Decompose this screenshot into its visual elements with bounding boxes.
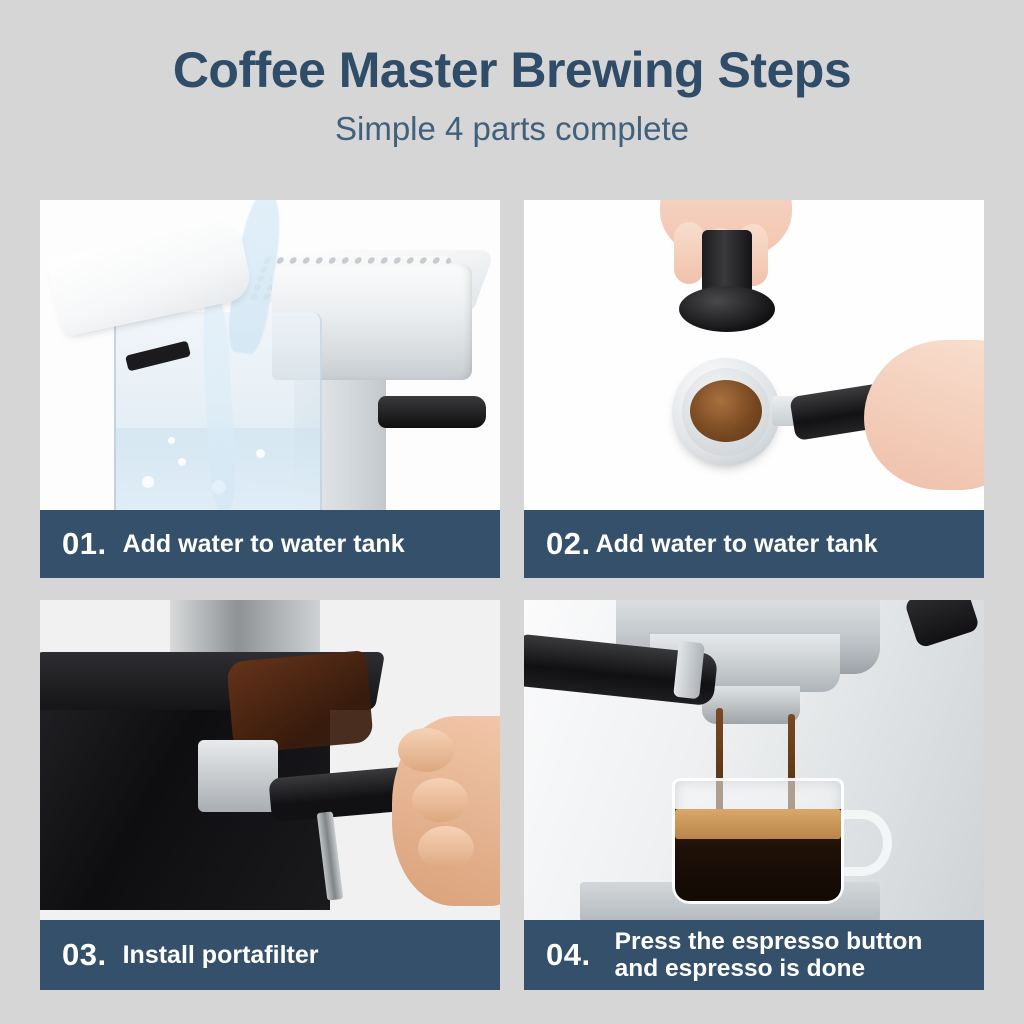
knuckle [418,826,474,870]
finger [674,222,704,284]
step-number: 01. [62,526,107,562]
step-card-03: 03. Install portafilter [40,600,500,990]
step-number: 03. [62,937,107,973]
tamper-base [679,286,775,332]
steam-wand [378,396,486,428]
step-card-02: 02. Add water to water tank [524,200,984,578]
step-caption-02: 02. Add water to water tank [524,510,984,578]
step-label: Add water to water tank [596,530,878,558]
step-label: Add water to water tank [123,530,405,558]
photo-tamp-grounds [524,200,984,510]
coffee-grounds [690,380,762,442]
header: Coffee Master Brewing Steps Simple 4 par… [0,0,1024,148]
photo-espresso-pouring [524,600,984,920]
photo-add-water [40,200,500,510]
knuckle [412,778,468,822]
group-head [198,740,278,812]
step-caption-04: 04. Press the espresso button and espres… [524,920,984,990]
water-bubble [168,437,175,444]
knuckle [398,728,454,772]
page-subtitle: Simple 4 parts complete [0,110,1024,148]
step-card-01: 01. Add water to water tank [40,200,500,578]
step-label: Install portafilter [123,941,319,969]
machine-brown-cowl [226,650,373,754]
step-number: 04. [546,937,591,973]
hand-holding-portafilter [864,340,984,490]
crema-layer [675,809,841,839]
page-title: Coffee Master Brewing Steps [0,42,1024,100]
steps-grid: 01. Add water to water tank 02. [40,200,984,990]
water-bubble [142,476,154,488]
step-label-line2: and espresso is done [615,955,866,982]
step-label: Press the espresso button and espresso i… [615,928,923,983]
step-caption-03: 03. Install portafilter [40,920,500,990]
espresso-glass-cup [672,778,844,904]
infographic-page: Coffee Master Brewing Steps Simple 4 par… [0,0,1024,1024]
espresso-liquid [675,809,841,901]
step-card-04: 04. Press the espresso button and espres… [524,600,984,990]
photo-install-portafilter [40,600,500,920]
step-number: 02. [546,526,591,562]
water-bubble [256,449,265,458]
water-bubble [178,458,186,466]
step-caption-01: 01. Add water to water tank [40,510,500,578]
step-label-line1: Press the espresso button [615,928,923,955]
